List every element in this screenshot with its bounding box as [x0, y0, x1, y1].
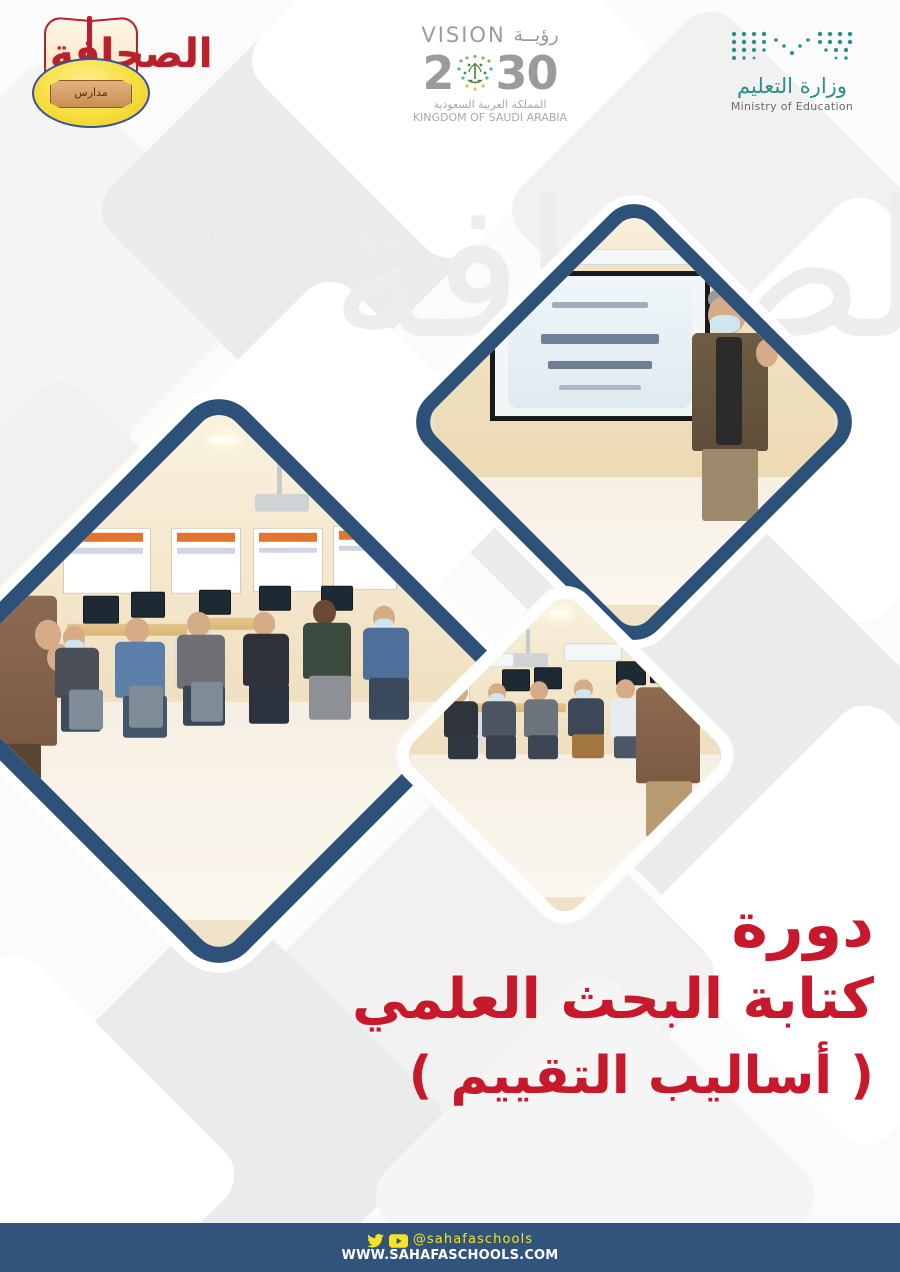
poster-title: دورة كتابة البحث العلمي ( أساليب التقييم…: [208, 888, 874, 1114]
title-line-2: كتابة البحث العلمي: [208, 962, 874, 1038]
social-handle-text[interactable]: @sahafaschools: [413, 1232, 533, 1247]
youtube-play-icon[interactable]: [389, 1233, 408, 1247]
school-logo-banner: مدارس: [50, 80, 132, 108]
vision-2030-logo: VISION رؤيــة 2: [405, 22, 575, 128]
moe-dot-pattern-icon: [706, 26, 878, 72]
website-url[interactable]: WWW.SAHAFASCHOOLS.COM: [342, 1248, 559, 1263]
ministry-name-ar: وزارة التعليم: [706, 74, 878, 98]
school-logo: الصحافة مدارس: [28, 14, 150, 126]
poster-canvas: الأهلية «« مدارس الصحافة الصحافة مدارس V…: [0, 0, 900, 1272]
poster-footer: @sahafaschools WWW.SAHAFASCHOOLS.COM: [0, 1223, 900, 1272]
title-line-1: دورة: [208, 888, 874, 962]
vision-year-left: 2: [422, 46, 453, 100]
vision-kingdom-en: KINGDOM OF SAUDI ARABIA: [405, 111, 575, 124]
vision-wordmark: VISION رؤيــة: [405, 22, 575, 48]
ministry-of-education-logo: وزارة التعليم Ministry of Education: [706, 26, 878, 126]
palm-and-swords-dot-emblem: [455, 53, 495, 93]
vision-word-ar: رؤيــة: [514, 24, 559, 46]
twitter-bird-icon[interactable]: [367, 1233, 384, 1247]
title-line-3: ( أساليب التقييم ): [208, 1038, 874, 1114]
vision-year: 2: [405, 48, 575, 98]
vision-word-en: VISION: [421, 23, 505, 47]
social-handle-row: @sahafaschools: [367, 1232, 533, 1247]
ministry-name-en: Ministry of Education: [706, 100, 878, 113]
vision-year-right: 30: [496, 46, 558, 100]
poster-header: الصحافة مدارس VISION رؤيــة 2: [0, 0, 900, 142]
